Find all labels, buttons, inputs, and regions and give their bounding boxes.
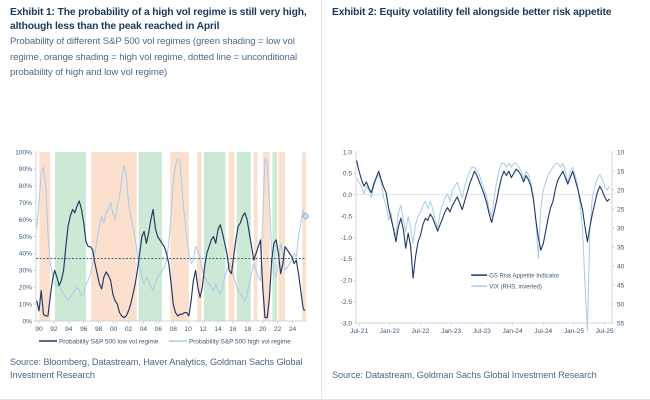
svg-text:90: 90 bbox=[35, 326, 43, 333]
svg-text:50: 50 bbox=[617, 301, 625, 308]
svg-text:16: 16 bbox=[229, 326, 237, 333]
svg-text:96: 96 bbox=[80, 326, 88, 333]
svg-text:70%: 70% bbox=[19, 200, 32, 207]
svg-text:55: 55 bbox=[617, 320, 625, 327]
svg-text:15: 15 bbox=[617, 168, 625, 175]
svg-text:-1.0: -1.0 bbox=[341, 235, 353, 242]
svg-text:Jul-21: Jul-21 bbox=[350, 328, 368, 335]
svg-text:40: 40 bbox=[617, 263, 625, 270]
svg-text:45: 45 bbox=[617, 282, 625, 289]
svg-text:100%: 100% bbox=[15, 149, 32, 156]
svg-text:80%: 80% bbox=[19, 183, 32, 190]
svg-text:GS Risk Appetite Indicator: GS Risk Appetite Indicator bbox=[489, 273, 559, 279]
svg-text:35: 35 bbox=[617, 244, 625, 251]
svg-text:14: 14 bbox=[214, 326, 222, 333]
svg-text:Jul-23: Jul-23 bbox=[473, 328, 491, 335]
svg-text:Jul-24: Jul-24 bbox=[534, 328, 552, 335]
svg-text:02: 02 bbox=[125, 326, 133, 333]
svg-text:1.0: 1.0 bbox=[343, 149, 352, 156]
svg-text:Jan-24: Jan-24 bbox=[502, 328, 522, 335]
svg-text:VIX (RHS, inverted): VIX (RHS, inverted) bbox=[489, 284, 542, 290]
svg-text:10: 10 bbox=[184, 326, 192, 333]
svg-text:40%: 40% bbox=[19, 251, 32, 258]
svg-text:06: 06 bbox=[155, 326, 163, 333]
svg-text:92: 92 bbox=[50, 326, 58, 333]
svg-text:20: 20 bbox=[617, 187, 625, 194]
svg-text:-1.5: -1.5 bbox=[341, 256, 353, 263]
svg-text:94: 94 bbox=[65, 326, 73, 333]
svg-text:Jan-23: Jan-23 bbox=[441, 328, 461, 335]
svg-text:00: 00 bbox=[110, 326, 118, 333]
svg-text:Jul-22: Jul-22 bbox=[411, 328, 429, 335]
exhibit-1-chart: 0%10%20%30%40%50%60%70%80%90%100%9092949… bbox=[10, 148, 312, 363]
svg-text:24: 24 bbox=[289, 326, 297, 333]
svg-text:Probability S&P 500 low vol re: Probability S&P 500 low vol regime bbox=[59, 338, 159, 345]
svg-text:0%: 0% bbox=[22, 318, 32, 325]
exhibit-1-panel: Exhibit 1: The probability of a high vol… bbox=[0, 0, 322, 400]
svg-text:0.0: 0.0 bbox=[343, 192, 352, 199]
exhibit-2-chart: 1.00.50.0-0.5-1.0-1.5-2.0-2.5-3.01015202… bbox=[330, 148, 642, 363]
svg-text:-2.0: -2.0 bbox=[341, 278, 353, 285]
svg-text:10: 10 bbox=[617, 149, 625, 156]
svg-text:30: 30 bbox=[617, 225, 625, 232]
svg-text:25: 25 bbox=[617, 206, 625, 213]
svg-text:Jan-25: Jan-25 bbox=[564, 328, 584, 335]
svg-text:-0.5: -0.5 bbox=[341, 213, 353, 220]
exhibit-1-source: Source: Bloomberg, Datastream, Haver Ana… bbox=[10, 356, 310, 382]
svg-text:18: 18 bbox=[244, 326, 252, 333]
svg-text:20: 20 bbox=[259, 326, 267, 333]
svg-text:12: 12 bbox=[199, 326, 207, 333]
svg-text:Probability S&P 500 high vol r: Probability S&P 500 high vol regime bbox=[189, 338, 291, 345]
svg-text:50%: 50% bbox=[19, 234, 32, 241]
svg-text:30%: 30% bbox=[19, 268, 32, 275]
svg-text:08: 08 bbox=[170, 326, 178, 333]
exhibit-1-title: Exhibit 1: The probability of a high vol… bbox=[10, 6, 312, 33]
exhibit-1-subtitle: Probability of different S&P 500 vol reg… bbox=[10, 34, 312, 81]
exhibit-page: Exhibit 1: The probability of a high vol… bbox=[0, 0, 650, 400]
svg-text:-2.5: -2.5 bbox=[341, 299, 353, 306]
svg-text:10%: 10% bbox=[19, 301, 32, 308]
svg-text:20%: 20% bbox=[19, 285, 32, 292]
svg-text:Jan-22: Jan-22 bbox=[380, 328, 400, 335]
svg-text:0.5: 0.5 bbox=[343, 171, 352, 178]
svg-text:04: 04 bbox=[140, 326, 148, 333]
exhibit-2-title: Exhibit 2: Equity volatility fell alongs… bbox=[332, 6, 640, 20]
svg-text:90%: 90% bbox=[19, 166, 32, 173]
svg-text:-3.0: -3.0 bbox=[341, 320, 353, 327]
exhibit-2-source: Source: Datastream, Goldman Sachs Global… bbox=[332, 369, 632, 382]
svg-text:Jul-25: Jul-25 bbox=[596, 328, 614, 335]
svg-text:60%: 60% bbox=[19, 217, 32, 224]
svg-text:22: 22 bbox=[274, 326, 282, 333]
svg-text:98: 98 bbox=[95, 326, 103, 333]
exhibit-2-panel: Exhibit 2: Equity volatility fell alongs… bbox=[322, 0, 650, 400]
